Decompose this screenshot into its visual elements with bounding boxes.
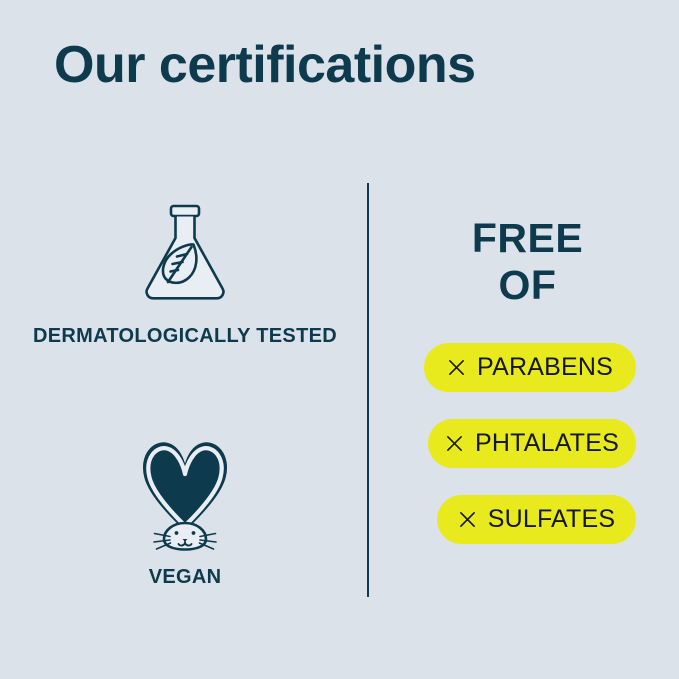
- certification-dermatologically-tested: DERMATOLOGICALLY TESTED: [20, 200, 350, 348]
- certifications-column: DERMATOLOGICALLY TESTED: [20, 183, 350, 597]
- x-cross-icon: [445, 434, 464, 453]
- x-cross-icon: [458, 510, 477, 529]
- free-of-item-phtalates: PHTALATES: [428, 419, 636, 468]
- free-of-item-sulfates: SULFATES: [437, 495, 636, 544]
- page-title: Our certifications: [54, 35, 476, 95]
- certification-vegan: VEGAN: [20, 433, 350, 589]
- certification-label: DERMATOLOGICALLY TESTED: [20, 325, 350, 348]
- free-of-heading: FREE OF: [395, 215, 660, 309]
- rabbit-heart-icon: [20, 433, 350, 556]
- certifications-panel: Our certifications: [0, 0, 679, 679]
- free-of-item-label: PARABENS: [477, 353, 613, 382]
- free-of-heading-line-1: FREE: [395, 215, 660, 262]
- x-cross-icon: [447, 358, 466, 377]
- free-of-column: FREE OF PARABENS PHTALATES SULFATE: [395, 183, 660, 597]
- free-of-item-label: SULFATES: [488, 505, 616, 534]
- column-divider: [367, 183, 369, 597]
- free-of-list: PARABENS PHTALATES SULFATES: [395, 343, 660, 544]
- flask-leaf-icon: [20, 200, 350, 313]
- free-of-item-parabens: PARABENS: [424, 343, 636, 392]
- certification-label: VEGAN: [20, 566, 350, 589]
- free-of-item-label: PHTALATES: [475, 429, 619, 458]
- free-of-heading-line-2: OF: [395, 262, 660, 309]
